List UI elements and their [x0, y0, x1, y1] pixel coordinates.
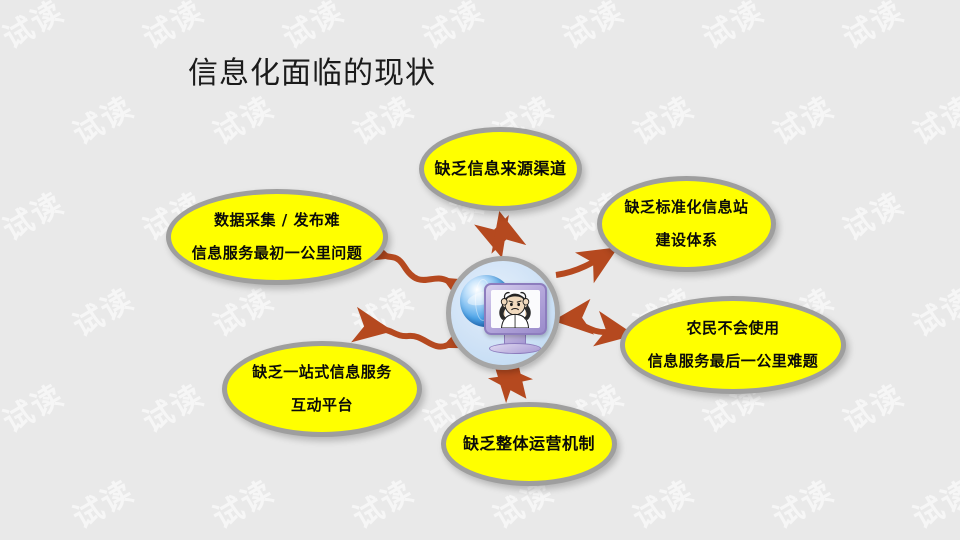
arrow-center-botleft [386, 330, 448, 347]
node-bottom-line-1: 缺乏整体运营机制 [463, 436, 595, 453]
node-top-line-1: 缺乏信息来源渠道 [434, 161, 566, 178]
node-left[interactable]: 数据采集 / 发布难 信息服务最初一公里问题 [166, 189, 388, 285]
center-node-computer[interactable] [446, 256, 560, 370]
node-topright-line-2: 建设体系 [655, 233, 717, 249]
node-bottom[interactable]: 缺乏整体运营机制 [441, 402, 617, 486]
node-left-line-2: 信息服务最初一公里问题 [192, 246, 363, 262]
monitor-icon [484, 283, 547, 335]
page-title: 信息化面临的现状 [188, 48, 436, 92]
arrow-center-right [560, 320, 628, 334]
node-topright[interactable]: 缺乏标准化信息站 建设体系 [597, 176, 776, 272]
monitor-screen [491, 290, 540, 328]
node-topright-line-1: 缺乏标准化信息站 [624, 200, 748, 216]
worried-person-icon [491, 290, 540, 328]
arrow-center-topright [556, 251, 612, 275]
arrow-center-bottom [498, 367, 522, 393]
node-right-line-1: 农民不会使用 [686, 321, 779, 337]
node-right-line-2: 信息服务最后一公里难题 [648, 354, 819, 370]
node-top[interactable]: 缺乏信息来源渠道 [419, 127, 582, 211]
node-right[interactable]: 农民不会使用 信息服务最后一公里难题 [620, 296, 846, 394]
node-botleft[interactable]: 缺乏一站式信息服务 互动平台 [222, 341, 422, 437]
node-left-line-1: 数据采集 / 发布难 [214, 213, 340, 229]
arrow-center-left [386, 256, 448, 281]
monitor-base [489, 343, 541, 354]
node-botleft-line-1: 缺乏一站式信息服务 [252, 365, 392, 381]
arrow-center-top [499, 218, 502, 251]
node-botleft-line-2: 互动平台 [291, 398, 353, 414]
slide-canvas: 试读试读试读试读试读试读试读试读试读试读试读试读试读试读试读试读试读试读试读试读… [0, 0, 960, 540]
